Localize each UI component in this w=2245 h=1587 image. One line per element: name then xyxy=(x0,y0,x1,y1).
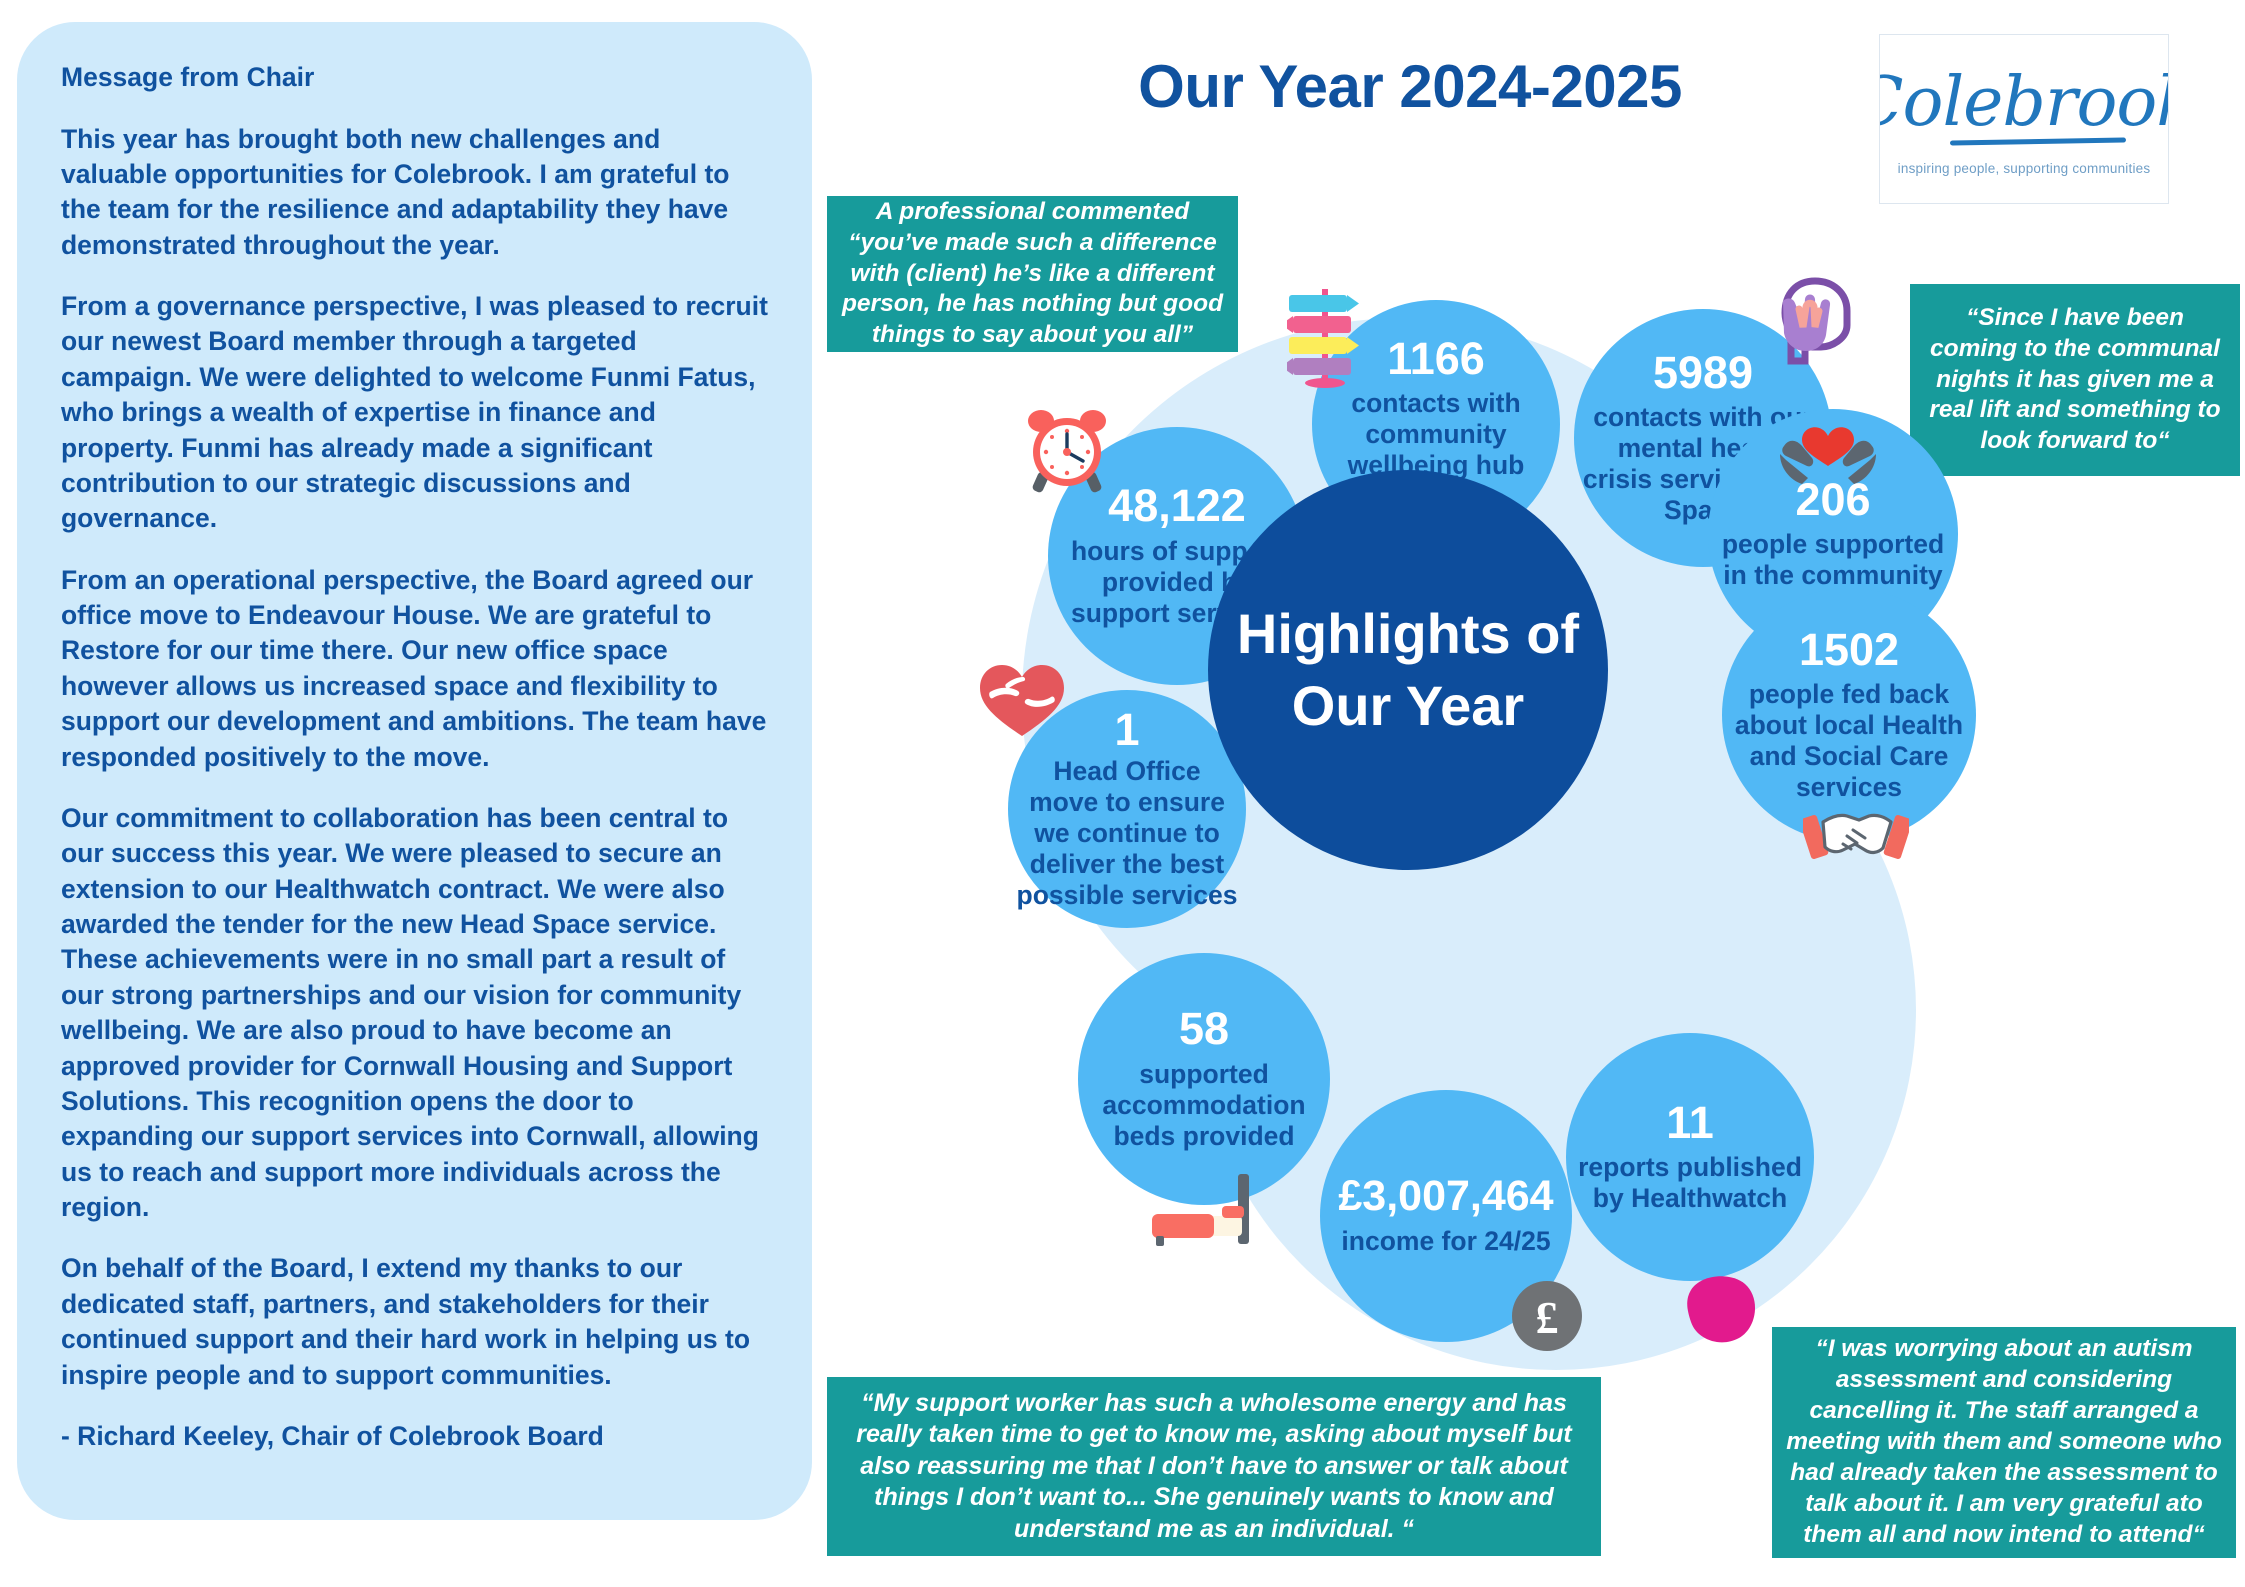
stat-value: 1 xyxy=(1114,707,1139,753)
bed-icon xyxy=(1138,1172,1258,1248)
hands-holding-heart-icon xyxy=(1778,402,1878,486)
colebrook-logo: Colebrook inspiring people, supporting c… xyxy=(1879,34,2169,204)
chair-message-panel: Message from Chair This year has brought… xyxy=(17,22,812,1520)
chair-signature: - Richard Keeley, Chair of Colebrook Boa… xyxy=(61,1419,768,1454)
stat-label: reports published by Healthwatch xyxy=(1574,1152,1806,1214)
page-title: Our Year 2024-2025 xyxy=(1030,52,1790,121)
stat-bubble-healthwatch-reports: 11 reports published by Healthwatch xyxy=(1566,1033,1814,1281)
pound-coin-icon: £ xyxy=(1511,1280,1583,1352)
chair-paragraph-1: This year has brought both new challenge… xyxy=(61,122,768,264)
handshake-icon xyxy=(1803,792,1909,874)
chair-message-title: Message from Chair xyxy=(61,60,768,96)
quote-support-worker: “My support worker has such a wholesome … xyxy=(827,1377,1601,1556)
stat-value: 5989 xyxy=(1653,350,1753,396)
chair-paragraph-4: Our commitment to collaboration has been… xyxy=(61,801,768,1226)
highlights-bubble-chart: 1166 contacts with community wellbeing h… xyxy=(960,270,2110,1370)
stat-value: £3,007,464 xyxy=(1338,1175,1553,1219)
chair-paragraph-5: On behalf of the Board, I extend my than… xyxy=(61,1251,768,1393)
stat-value: 1166 xyxy=(1387,336,1485,382)
logo-wordmark: Colebrook xyxy=(1879,69,2169,137)
stat-value: 48,122 xyxy=(1108,483,1246,529)
stat-bubble-accommodation-beds: 58 supported accommodation beds provided xyxy=(1078,953,1330,1205)
chair-paragraph-3: From an operational perspective, the Boa… xyxy=(61,563,768,775)
stat-label: people fed back about local Health and S… xyxy=(1730,679,1968,803)
pink-blob-icon xyxy=(1683,1270,1759,1346)
infographic-page: Message from Chair This year has brought… xyxy=(0,0,2245,1587)
stat-value: 58 xyxy=(1179,1006,1229,1052)
stat-value: 11 xyxy=(1666,1100,1714,1146)
heart-hands-icon xyxy=(976,662,1068,740)
logo-tagline: inspiring people, supporting communities xyxy=(1898,161,2151,176)
center-highlights-bubble: Highlights of Our Year xyxy=(1208,470,1608,870)
svg-text:£: £ xyxy=(1536,1292,1559,1343)
stat-label: income for 24/25 xyxy=(1341,1226,1550,1257)
stat-label: Head Office move to ensure we continue t… xyxy=(1016,756,1238,911)
center-label: Highlights of Our Year xyxy=(1208,598,1608,741)
stat-value: 1502 xyxy=(1799,627,1899,673)
stat-label: supported accommodation beds provided xyxy=(1086,1059,1322,1152)
signpost-icon xyxy=(1287,285,1365,389)
stat-label: people supported in the community xyxy=(1716,529,1950,591)
alarm-clock-icon xyxy=(1023,406,1111,494)
head-hand-icon xyxy=(1763,275,1859,371)
chair-paragraph-2: From a governance perspective, I was ple… xyxy=(61,289,768,537)
